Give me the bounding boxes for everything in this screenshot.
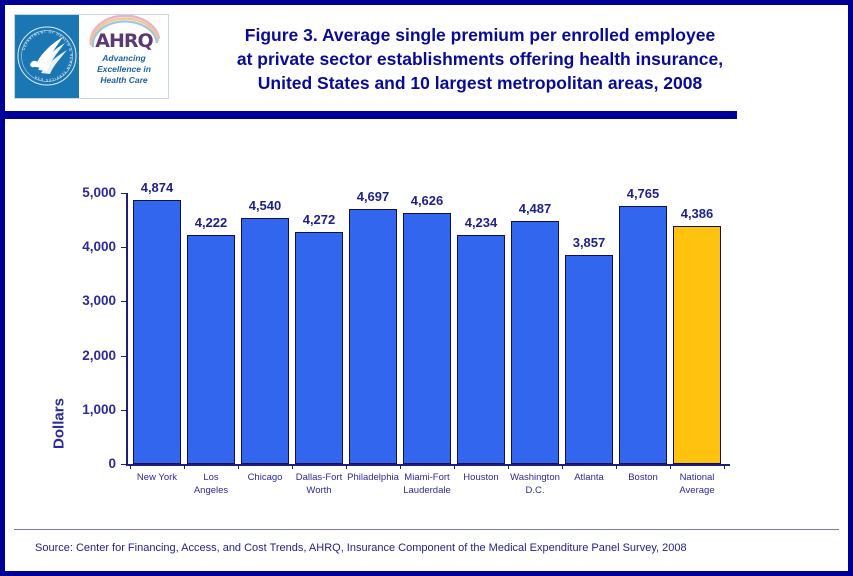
figure-title-line-2: at private sector establishments offerin…: [180, 47, 780, 71]
x-axis-line: [126, 464, 730, 466]
x-axis-tick-mark: [724, 464, 725, 469]
x-axis-category-line: National: [664, 471, 730, 484]
x-axis-category-line: Lauderdale: [394, 484, 460, 497]
figure-title: Figure 3. Average single premium per enr…: [180, 23, 780, 95]
y-axis-tick-label: 4,000: [60, 240, 116, 253]
y-axis-tick-mark: [121, 410, 127, 411]
hhs-seal-svg: DEPARTMENT OF HEALTH & HUMAN SERVICES US…: [15, 15, 79, 98]
x-axis-tick-mark: [670, 464, 671, 469]
x-axis-category-line: Angeles: [178, 484, 244, 497]
bar-chicago[interactable]: [241, 218, 289, 464]
bar-value-label: 4,272: [289, 213, 349, 226]
bar-national-average[interactable]: [673, 226, 721, 464]
x-axis-tick-mark: [346, 464, 347, 469]
bar-chart: Dollars 01,0002,0003,0004,0005,000 4,874…: [5, 135, 848, 525]
ahrq-hhs-logo: DEPARTMENT OF HEALTH & HUMAN SERVICES US…: [14, 14, 169, 99]
figure-frame: DEPARTMENT OF HEALTH & HUMAN SERVICES US…: [0, 0, 853, 576]
hhs-seal-icon: DEPARTMENT OF HEALTH & HUMAN SERVICES US…: [15, 15, 79, 98]
bar-value-label: 3,857: [559, 236, 619, 249]
x-axis-tick-mark: [454, 464, 455, 469]
y-axis-tick-label: 5,000: [60, 186, 116, 199]
bar-new-york[interactable]: [133, 200, 181, 464]
x-axis-category-label: NationalAverage: [664, 471, 730, 497]
ahrq-wordmark: AHRQ Advancing Excellence in Health Care: [79, 15, 168, 98]
ahrq-tagline-line-1: Advancing: [79, 53, 168, 64]
y-axis-tick-mark: [121, 247, 127, 248]
bar-atlanta[interactable]: [565, 255, 613, 464]
footer-divider-rule: [14, 529, 839, 530]
bar-washington-d-c-[interactable]: [511, 221, 559, 464]
x-axis-tick-mark: [292, 464, 293, 469]
x-axis-category-line: D.C.: [502, 484, 568, 497]
y-axis-tick-mark: [121, 464, 127, 465]
ahrq-acronym: AHRQ: [82, 32, 166, 51]
x-axis-tick-mark: [616, 464, 617, 469]
bar-value-label: 4,874: [127, 181, 187, 194]
y-axis-line: [126, 193, 128, 465]
bar-value-label: 4,386: [667, 207, 727, 220]
bar-value-label: 4,487: [505, 202, 565, 215]
bar-miami-fort-lauderdale[interactable]: [403, 213, 451, 464]
header-divider-rule: [5, 111, 737, 119]
y-axis-tick-label: 2,000: [60, 349, 116, 362]
x-axis-category-line: Average: [664, 484, 730, 497]
figure-header: DEPARTMENT OF HEALTH & HUMAN SERVICES US…: [5, 5, 848, 110]
bar-philadelphia[interactable]: [349, 209, 397, 464]
bar-value-label: 4,765: [613, 187, 673, 200]
bar-houston[interactable]: [457, 235, 505, 464]
x-axis-tick-mark: [238, 464, 239, 469]
x-axis-category-line: Worth: [286, 484, 352, 497]
bar-value-label: 4,697: [343, 190, 403, 203]
ahrq-tagline-line-2: Excellence in: [79, 64, 168, 75]
x-axis-tick-mark: [562, 464, 563, 469]
bar-value-label: 4,626: [397, 194, 457, 207]
bar-los-angeles[interactable]: [187, 235, 235, 464]
bar-value-label: 4,222: [181, 216, 241, 229]
x-axis-tick-mark: [130, 464, 131, 469]
y-axis-tick-mark: [121, 301, 127, 302]
source-note: Source: Center for Financing, Access, an…: [35, 542, 687, 554]
bar-value-label: 4,234: [451, 216, 511, 229]
ahrq-tagline-line-3: Health Care: [79, 75, 168, 86]
y-axis-tick-label: 1,000: [60, 403, 116, 416]
y-axis-tick-mark: [121, 356, 127, 357]
bar-boston[interactable]: [619, 206, 667, 464]
figure-title-line-1: Figure 3. Average single premium per enr…: [180, 23, 780, 47]
x-axis-tick-mark: [400, 464, 401, 469]
figure-title-line-3: United States and 10 largest metropolita…: [180, 71, 780, 95]
x-axis-tick-mark: [184, 464, 185, 469]
y-axis-tick-label: 3,000: [60, 294, 116, 307]
x-axis-tick-mark: [508, 464, 509, 469]
bar-dallas-fort-worth[interactable]: [295, 232, 343, 464]
y-axis-tick-label: 0: [60, 457, 116, 470]
ahrq-tagline: Advancing Excellence in Health Care: [79, 53, 168, 86]
bar-value-label: 4,540: [235, 199, 295, 212]
